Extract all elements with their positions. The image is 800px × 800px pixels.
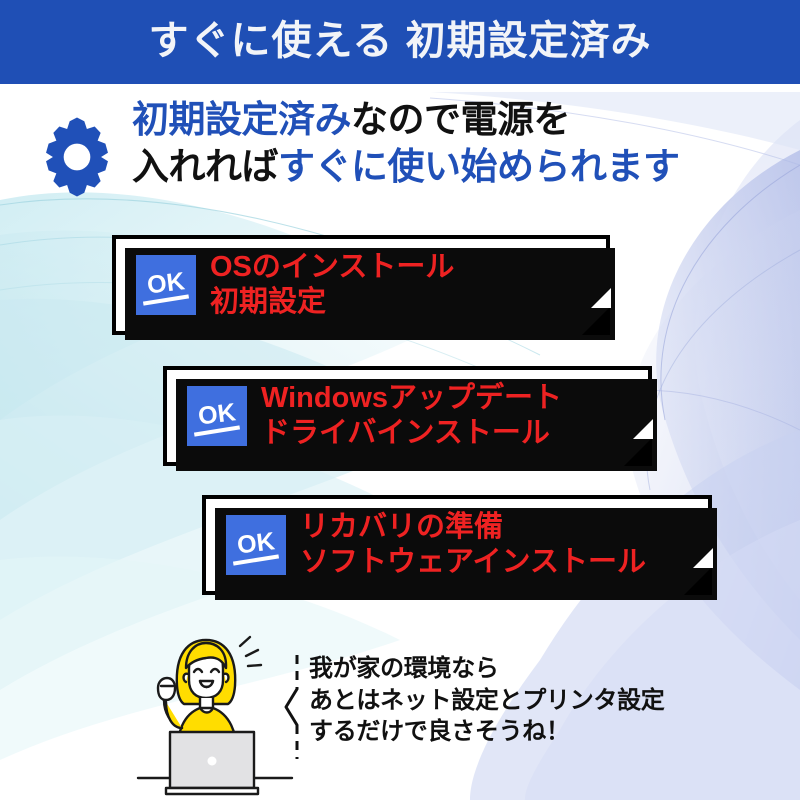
feature-card-2-line2: ドライバインストール — [261, 416, 562, 451]
headline-text: 初期設定済みなので電源を 入れればすぐに使い始められます — [132, 96, 680, 191]
card-fold-inner — [591, 288, 611, 308]
feature-card-2-line1: Windowsアップデート — [261, 381, 562, 416]
header-banner: すぐに使える 初期設定済み — [0, 0, 800, 84]
ok-badge: OK — [187, 386, 247, 446]
feature-card-2: OK Windowsアップデート ドライバインストール — [163, 366, 652, 466]
headline-line1-blue: 初期設定済み — [132, 99, 351, 140]
ok-badge: OK — [136, 255, 196, 315]
headline-line1-black: なので電源を — [351, 99, 570, 140]
speech-bubble: 我が家の環境なら あとはネット設定とプリンタ設定 するだけで良さそうね！ — [283, 653, 665, 761]
feature-card-3-text: リカバリの準備 ソフトウェアインストール — [300, 510, 646, 580]
card-fold-inner — [693, 548, 713, 568]
feature-card-3-line1: リカバリの準備 — [300, 510, 646, 545]
speech-line-3: するだけで良さそうね！ — [309, 716, 665, 748]
card-fold-corner — [582, 307, 610, 335]
feature-card-3: OK リカバリの準備 ソフトウェアインストール — [202, 495, 712, 595]
feature-card-1-line2: 初期設定 — [210, 285, 454, 320]
feature-card-1-line1: OSのインストール — [210, 250, 454, 285]
feature-card-1-text: OSのインストール 初期設定 — [210, 250, 454, 320]
headline-section: 初期設定済みなので電源を 入れればすぐに使い始められます — [0, 96, 800, 200]
speech-line-2: あとはネット設定とプリンタ設定 — [309, 685, 665, 717]
gear-icon — [34, 114, 126, 200]
headline-line-1: 初期設定済みなので電源を — [132, 96, 680, 143]
feature-card-1: OK OSのインストール 初期設定 — [112, 235, 610, 335]
woman-with-laptop-illustration — [132, 628, 298, 800]
speech-bubble-tail — [283, 653, 305, 761]
speech-bubble-text: 我が家の環境なら あとはネット設定とプリンタ設定 するだけで良さそうね！ — [309, 653, 665, 761]
card-fold-inner — [633, 419, 653, 439]
headline-line2-blue: すぐに使い始められます — [278, 146, 680, 187]
headline-line-2: 入れればすぐに使い始められます — [132, 143, 680, 190]
banner-title: すぐに使える 初期設定済み — [149, 21, 652, 61]
promo-banner-image: すぐに使える 初期設定済み 初期設定済みなので電源を 入れればすぐに使い始められ… — [0, 0, 800, 800]
headline-line2-black: 入れれば — [132, 146, 278, 187]
feature-card-3-line2: ソフトウェアインストール — [300, 545, 646, 580]
card-fold-corner — [684, 567, 712, 595]
feature-card-2-text: Windowsアップデート ドライバインストール — [261, 381, 562, 451]
speech-line-1: 我が家の環境なら — [309, 653, 665, 685]
ok-badge: OK — [226, 515, 286, 575]
card-fold-corner — [624, 438, 652, 466]
